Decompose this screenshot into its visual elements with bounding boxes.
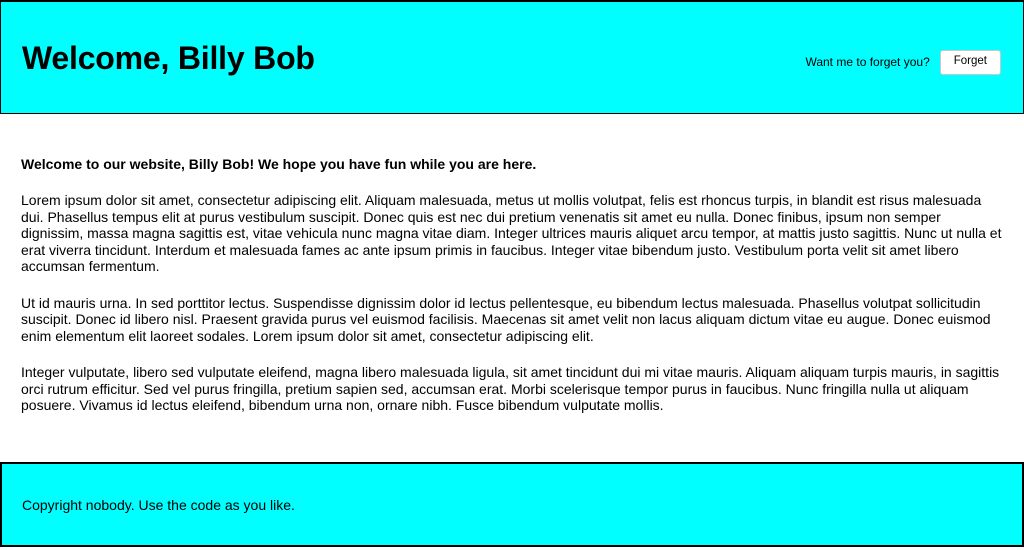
page-root: Welcome, Billy Bob Want me to forget you… — [0, 0, 1024, 550]
site-footer: Copyright nobody. Use the code as you li… — [0, 462, 1024, 547]
welcome-intro-text: Welcome to our website, Billy Bob! We ho… — [21, 114, 1003, 172]
site-header: Welcome, Billy Bob Want me to forget you… — [0, 0, 1024, 114]
forget-control-group: Want me to forget you? Forget — [805, 50, 1001, 75]
main-content: Welcome to our website, Billy Bob! We ho… — [0, 114, 1024, 414]
body-paragraph: Integer vulputate, libero sed vulputate … — [21, 344, 1003, 414]
body-paragraph: Lorem ipsum dolor sit amet, consectetur … — [21, 172, 1003, 275]
body-paragraph: Ut id mauris urna. In sed porttitor lect… — [21, 275, 1003, 345]
forget-prompt-label: Want me to forget you? — [805, 56, 929, 68]
page-title: Welcome, Billy Bob — [1, 42, 315, 74]
forget-button[interactable]: Forget — [940, 50, 1001, 75]
copyright-text: Copyright nobody. Use the code as you li… — [2, 498, 295, 512]
